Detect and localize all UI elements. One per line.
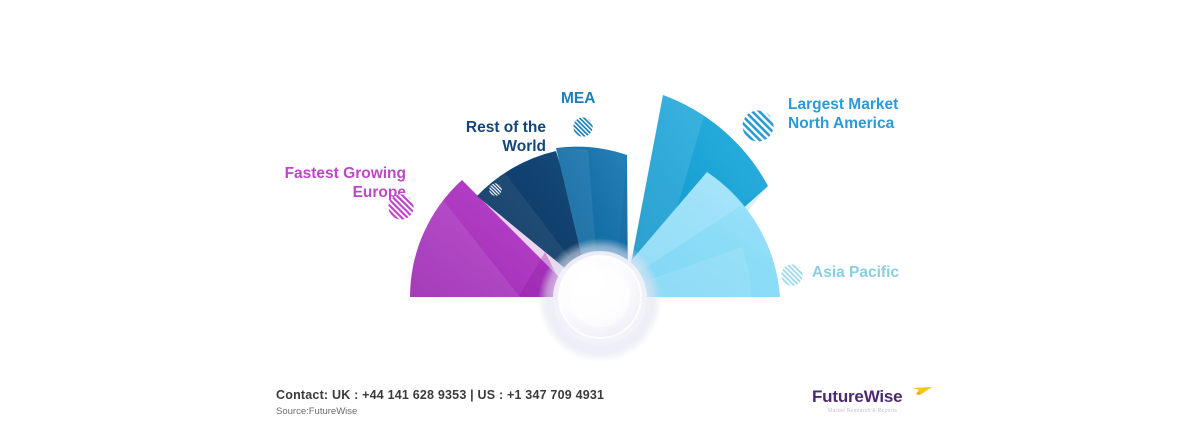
logo-wordmark-part1: Future bbox=[812, 387, 864, 406]
logo-wordmark: FutureWise bbox=[812, 387, 902, 407]
contact-info: Contact: UK : +44 141 628 9353 | US : +1… bbox=[276, 388, 604, 402]
hatched-circle-icon-north-america bbox=[742, 110, 774, 142]
label-mea: MEA bbox=[561, 90, 595, 109]
hatched-circle-icon-rest-of-world bbox=[489, 183, 502, 196]
flag-swoosh-icon bbox=[911, 386, 933, 402]
label-rest-of-world: Rest of the World bbox=[420, 119, 546, 157]
hatched-circle-icon-europe bbox=[388, 194, 414, 220]
regional-fan-chart bbox=[0, 0, 1200, 428]
infographic-canvas: Largest Market North America MEA Rest of… bbox=[0, 0, 1200, 428]
label-europe-line2: Europe bbox=[248, 184, 406, 203]
futurewise-logo[interactable]: FutureWise Market Research & Reports bbox=[812, 387, 932, 419]
label-mea-line1: MEA bbox=[561, 90, 595, 109]
label-europe-line1: Fastest Growing bbox=[248, 165, 406, 184]
hatched-circle-icon-mea bbox=[573, 117, 593, 137]
footer: Contact: UK : +44 141 628 9353 | US : +1… bbox=[0, 376, 1200, 428]
label-north-america-line2: North America bbox=[788, 115, 898, 134]
logo-wordmark-part2: Wise bbox=[864, 387, 903, 406]
label-rest-of-world-line1: Rest of the bbox=[420, 119, 546, 138]
label-north-america: Largest Market North America bbox=[788, 96, 898, 134]
label-rest-of-world-line2: World bbox=[420, 138, 546, 157]
label-europe: Fastest Growing Europe bbox=[248, 165, 406, 203]
label-north-america-line1: Largest Market bbox=[788, 96, 898, 115]
center-hub bbox=[538, 238, 662, 362]
label-asia-pacific: Asia Pacific bbox=[812, 264, 899, 283]
hatched-circle-icon-asia-pacific bbox=[781, 264, 803, 286]
logo-tagline: Market Research & Reports bbox=[828, 408, 897, 414]
source-credit: Source:FutureWise bbox=[276, 406, 357, 417]
label-asia-pacific-line1: Asia Pacific bbox=[812, 264, 899, 283]
